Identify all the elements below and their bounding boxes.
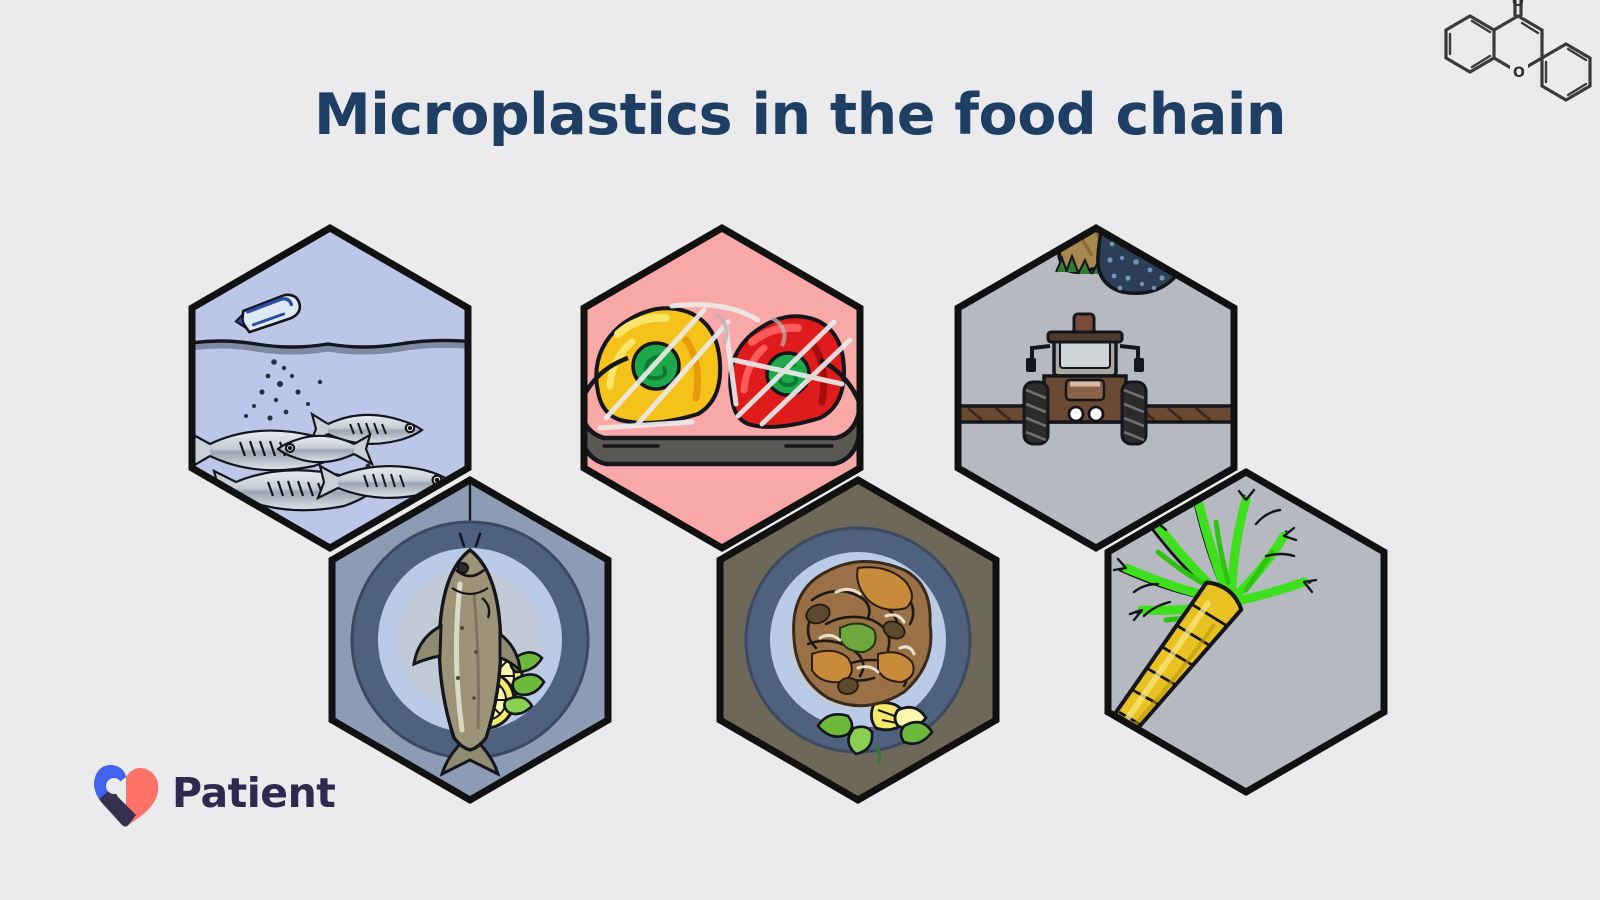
carbonyl-oxygen-label: O (1512, 0, 1524, 10)
ring-oxygen-label: O (1513, 65, 1525, 81)
page-title: Microplastics in the food chain (0, 82, 1600, 148)
mixed-vegetable-dish (794, 561, 931, 705)
patient-logo-mark-icon (90, 759, 162, 831)
hexagon-carrot[interactable] (1096, 460, 1396, 800)
hexagon-served-vegetables[interactable] (708, 468, 1008, 808)
infographic-canvas: Microplastics in the food chain (0, 0, 1600, 900)
logo-pin-hole (106, 778, 122, 794)
patient-wordmark: Patient (172, 773, 335, 818)
hexagon-served-fish[interactable] (320, 468, 620, 808)
flavone-chemical-structure-icon: O O (1412, 0, 1592, 106)
patient-logo[interactable]: Patient (90, 752, 320, 838)
hexagon-fill (1108, 472, 1384, 792)
